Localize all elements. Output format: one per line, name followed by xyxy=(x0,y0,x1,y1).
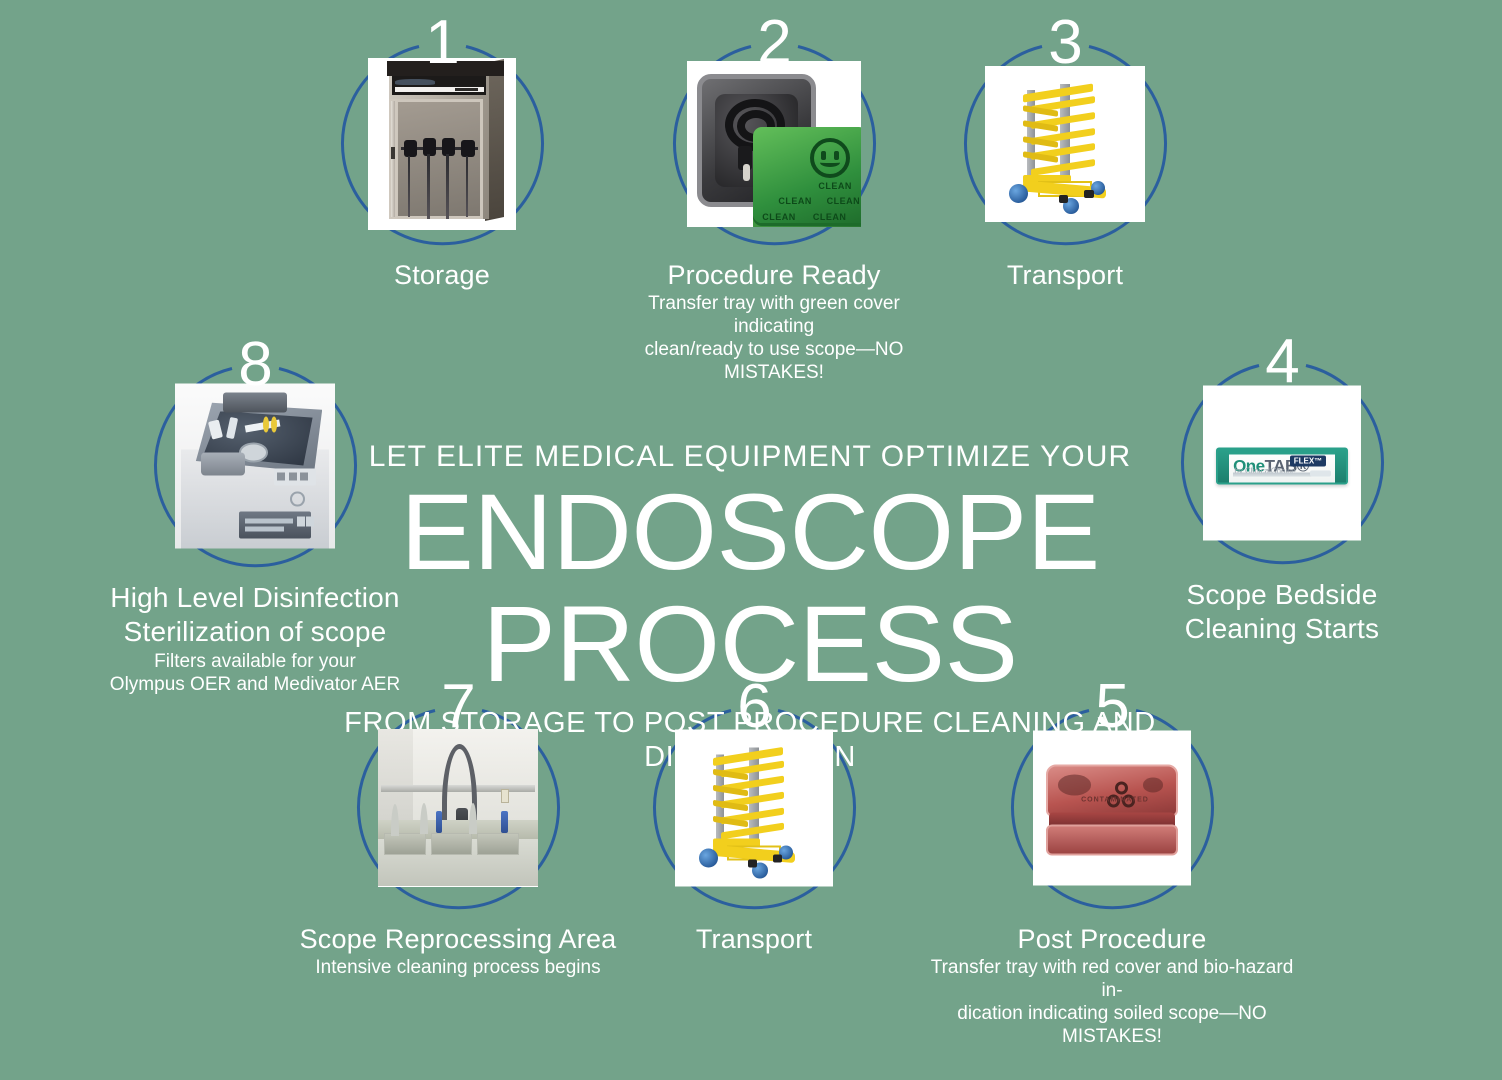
step-7-label: Scope Reprocessing Area xyxy=(298,923,618,955)
transport-cart-photo xyxy=(675,729,833,886)
step-3-photo xyxy=(985,66,1145,222)
step-5-number: 5 xyxy=(1086,676,1137,738)
step-4-photo: OneTAB® FLEX™ by ClinicalChoice xyxy=(1203,385,1361,540)
contaminated-word: CONTAMINATED xyxy=(1081,796,1149,803)
automated-endoscope-reprocessor-photo xyxy=(175,383,335,548)
step-4-ring-wrap: 4 OneTAB® FLEX™ by ClinicalChoice xyxy=(1175,355,1390,570)
step-7-photo xyxy=(378,729,538,887)
step-2-label: Procedure Ready xyxy=(614,259,934,291)
step-1-storage: 1 xyxy=(302,36,582,292)
onetab-sachet-photo: OneTAB® FLEX™ by ClinicalChoice xyxy=(1203,385,1361,540)
step-6-photo xyxy=(675,729,833,886)
step-7-number: 7 xyxy=(432,676,483,738)
headline-kicker: LET ELITE MEDICAL EQUIPMENT OPTIMIZE YOU… xyxy=(340,440,1160,474)
clean-word-5: CLEAN xyxy=(813,212,847,222)
clean-word-1: CLEAN xyxy=(818,181,852,191)
step-6-label: Transport xyxy=(614,923,894,955)
post-procedure-red-tray-photo: CONTAMINATED xyxy=(1033,730,1191,885)
step-4-scope-bedside-cleaning: 4 OneTAB® FLEX™ by ClinicalChoice xyxy=(1142,355,1422,647)
clean-word-3: CLEAN xyxy=(827,196,861,206)
step-4-number: 4 xyxy=(1256,331,1307,393)
clean-word-2: CLEAN xyxy=(778,196,812,206)
step-3-ring-wrap: 3 xyxy=(958,36,1173,251)
step-8-photo xyxy=(175,383,335,548)
infographic-canvas: 1 xyxy=(0,0,1502,1080)
transport-cart-photo xyxy=(985,66,1145,222)
step-5-ring-wrap: 5 CONTAMINATED xyxy=(1005,700,1220,915)
step-7-sub: Intensive cleaning process begins xyxy=(298,956,618,979)
step-3-label: Transport xyxy=(925,259,1205,291)
step-1-number: 1 xyxy=(416,12,467,74)
step-4-label: Scope Bedside Cleaning Starts xyxy=(1142,578,1422,646)
step-6-ring-wrap: 6 xyxy=(647,700,862,915)
step-8-ring-wrap: 8 xyxy=(148,358,363,573)
procedure-ready-tray-photo: CLEAN CLEAN CLEAN CLEAN CLEAN xyxy=(687,61,861,227)
headline-title: ENDOSCOPE PROCESS xyxy=(332,476,1168,700)
step-3-transport: 3 xyxy=(925,36,1205,292)
step-5-label: Post Procedure xyxy=(922,923,1302,955)
step-5-photo: CONTAMINATED xyxy=(1033,730,1191,885)
clean-smiley-icon xyxy=(810,138,850,178)
endoscope-storage-cabinet-photo xyxy=(368,58,516,230)
step-3-number: 3 xyxy=(1039,12,1090,74)
step-7-ring-wrap: 7 xyxy=(351,700,566,915)
step-1-label: Storage xyxy=(302,259,582,291)
step-2-ring-wrap: 2 xyxy=(667,36,882,251)
step-2-photo: CLEAN CLEAN CLEAN CLEAN CLEAN xyxy=(687,61,861,227)
step-1-photo xyxy=(368,58,516,230)
step-1-ring-wrap: 1 xyxy=(335,36,550,251)
step-2-number: 2 xyxy=(748,12,799,74)
step-6-number: 6 xyxy=(728,676,779,738)
reprocessing-sink-room-photo xyxy=(378,729,538,887)
step-5-sub: Transfer tray with red cover and bio-haz… xyxy=(922,956,1302,1048)
clean-word-4: CLEAN xyxy=(762,212,796,222)
step-8-number: 8 xyxy=(229,334,280,396)
onetab-flex-badge: FLEX™ xyxy=(1290,456,1326,467)
step-2-procedure-ready: 2 xyxy=(614,36,934,384)
step-2-sub: Transfer tray with green cover indicatin… xyxy=(614,292,934,384)
